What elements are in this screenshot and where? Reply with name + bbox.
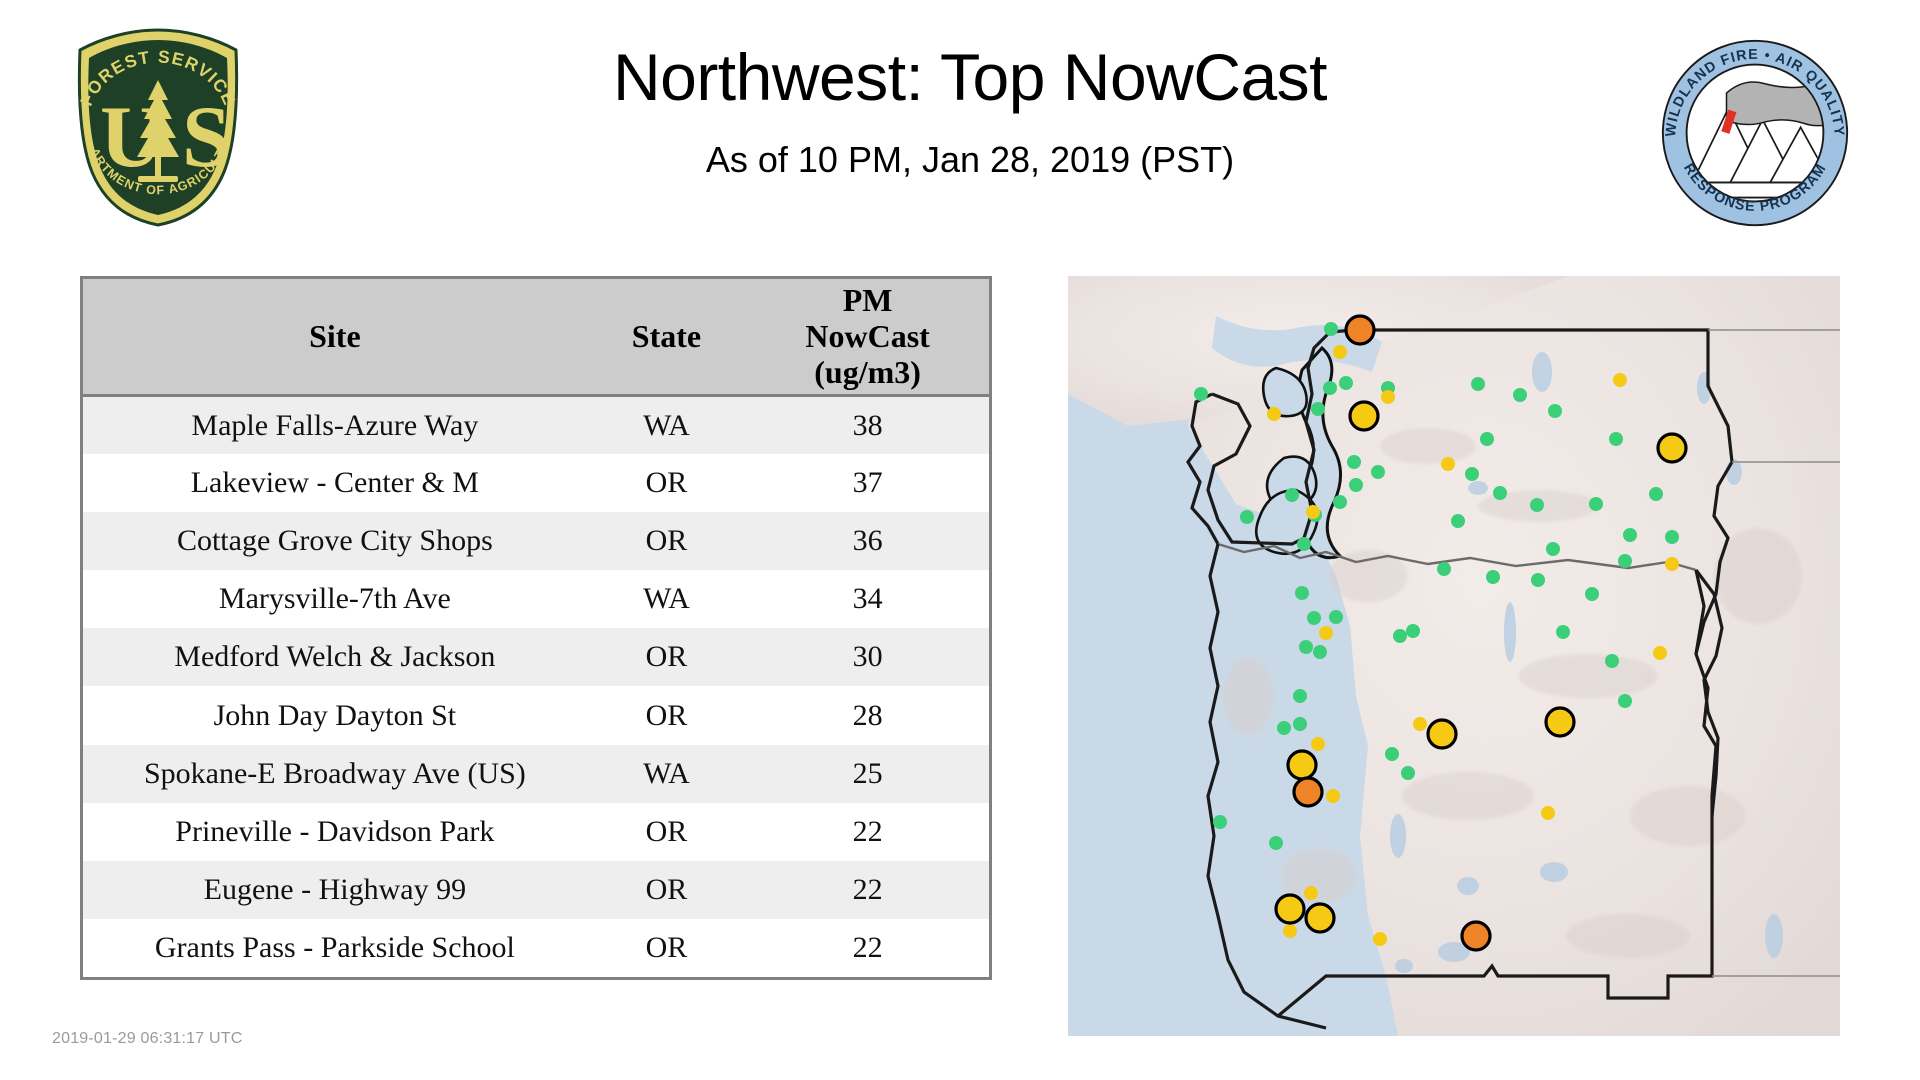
cell-value: 22	[746, 803, 989, 861]
cell-value: 25	[746, 745, 989, 803]
cell-state: OR	[587, 628, 746, 686]
cell-state: OR	[587, 919, 746, 977]
cell-site: Medford Welch & Jackson	[83, 628, 587, 686]
pm-header-line-1: PM	[752, 283, 983, 319]
cell-state: OR	[587, 861, 746, 919]
cell-site: Marysville-7th Ave	[83, 570, 587, 628]
cell-site: John Day Dayton St	[83, 686, 587, 744]
cell-value: 22	[746, 919, 989, 977]
cell-state: OR	[587, 454, 746, 512]
map-marker-john-day	[1428, 720, 1456, 748]
cell-site: Eugene - Highway 99	[83, 861, 587, 919]
map-marker-grants-pass	[1276, 895, 1304, 923]
cell-state: OR	[587, 803, 746, 861]
table-row[interactable]: Eugene - Highway 99 OR 22	[83, 861, 989, 919]
table-row[interactable]: Cottage Grove City Shops OR 36	[83, 512, 989, 570]
cell-site: Cottage Grove City Shops	[83, 512, 587, 570]
forest-service-shield-icon: FOREST SERVICE U S DEPARTMENT OF AGRICUL…	[58, 26, 258, 228]
table-row[interactable]: Medford Welch & Jackson OR 30	[83, 628, 989, 686]
page-header: FOREST SERVICE U S DEPARTMENT OF AGRICUL…	[0, 0, 1920, 262]
cell-site: Maple Falls-Azure Way	[83, 396, 587, 454]
pm-header-line-2: NowCast	[752, 319, 983, 355]
map-marker-cottage-grove	[1288, 751, 1316, 779]
page-subtitle: As of 10 PM, Jan 28, 2019 (PST)	[300, 138, 1640, 181]
cell-site: Lakeview - Center & M	[83, 454, 587, 512]
table-row[interactable]: Marysville-7th Ave WA 34	[83, 570, 989, 628]
table-row[interactable]: Lakeview - Center & M OR 37	[83, 454, 989, 512]
cell-state: WA	[587, 396, 746, 454]
page-title: Northwest: Top NowCast	[300, 40, 1640, 116]
map-marker-medford	[1306, 904, 1334, 932]
cell-value: 30	[746, 628, 989, 686]
map-marker-marysville	[1350, 402, 1378, 430]
map-marker-prineville	[1546, 708, 1574, 736]
cell-site: Prineville - Davidson Park	[83, 803, 587, 861]
pacific-northwest-monitor-map[interactable]	[1068, 276, 1840, 1036]
cell-value: 22	[746, 861, 989, 919]
cell-state: OR	[587, 686, 746, 744]
cell-value: 34	[746, 570, 989, 628]
cell-value: 37	[746, 454, 989, 512]
table-header-row: Site State PM NowCast (ug/m3)	[83, 279, 989, 396]
column-header-pm-nowcast: PM NowCast (ug/m3)	[746, 279, 989, 396]
cell-value: 28	[746, 686, 989, 744]
nowcast-report-page: FOREST SERVICE U S DEPARTMENT OF AGRICUL…	[0, 0, 1920, 1080]
cell-value: 38	[746, 396, 989, 454]
cell-state: OR	[587, 512, 746, 570]
table-row[interactable]: John Day Dayton St OR 28	[83, 686, 989, 744]
table-body: Maple Falls-Azure Way WA 38 Lakeview - C…	[83, 396, 989, 977]
table-row[interactable]: Spokane-E Broadway Ave (US) WA 25	[83, 745, 989, 803]
map-marker-spokane	[1658, 434, 1686, 462]
column-header-state: State	[587, 279, 746, 396]
map-marker-maple-falls	[1346, 316, 1374, 344]
top-nowcast-table: Site State PM NowCast (ug/m3) Maple Fall…	[83, 279, 989, 977]
title-block: Northwest: Top NowCast As of 10 PM, Jan …	[300, 40, 1640, 181]
cell-state: WA	[587, 745, 746, 803]
map-marker-eugene	[1294, 778, 1322, 806]
pm-header-line-3: (ug/m3)	[752, 355, 983, 391]
generation-timestamp: 2019-01-29 06:31:17 UTC	[52, 1030, 243, 1048]
cell-site: Grants Pass - Parkside School	[83, 919, 587, 977]
table-row[interactable]: Prineville - Davidson Park OR 22	[83, 803, 989, 861]
table-row[interactable]: Maple Falls-Azure Way WA 38	[83, 396, 989, 454]
wildland-fire-air-quality-logo-icon: WILDLAND FIRE • AIR QUALITY RESPONSE PRO…	[1660, 38, 1850, 228]
table-row[interactable]: Grants Pass - Parkside School OR 22	[83, 919, 989, 977]
cell-value: 36	[746, 512, 989, 570]
column-header-site: Site	[83, 279, 587, 396]
cell-state: WA	[587, 570, 746, 628]
map-marker-lakeview	[1462, 922, 1490, 950]
cell-site: Spokane-E Broadway Ave (US)	[83, 745, 587, 803]
top-nowcast-table-container: Site State PM NowCast (ug/m3) Maple Fall…	[80, 276, 992, 980]
